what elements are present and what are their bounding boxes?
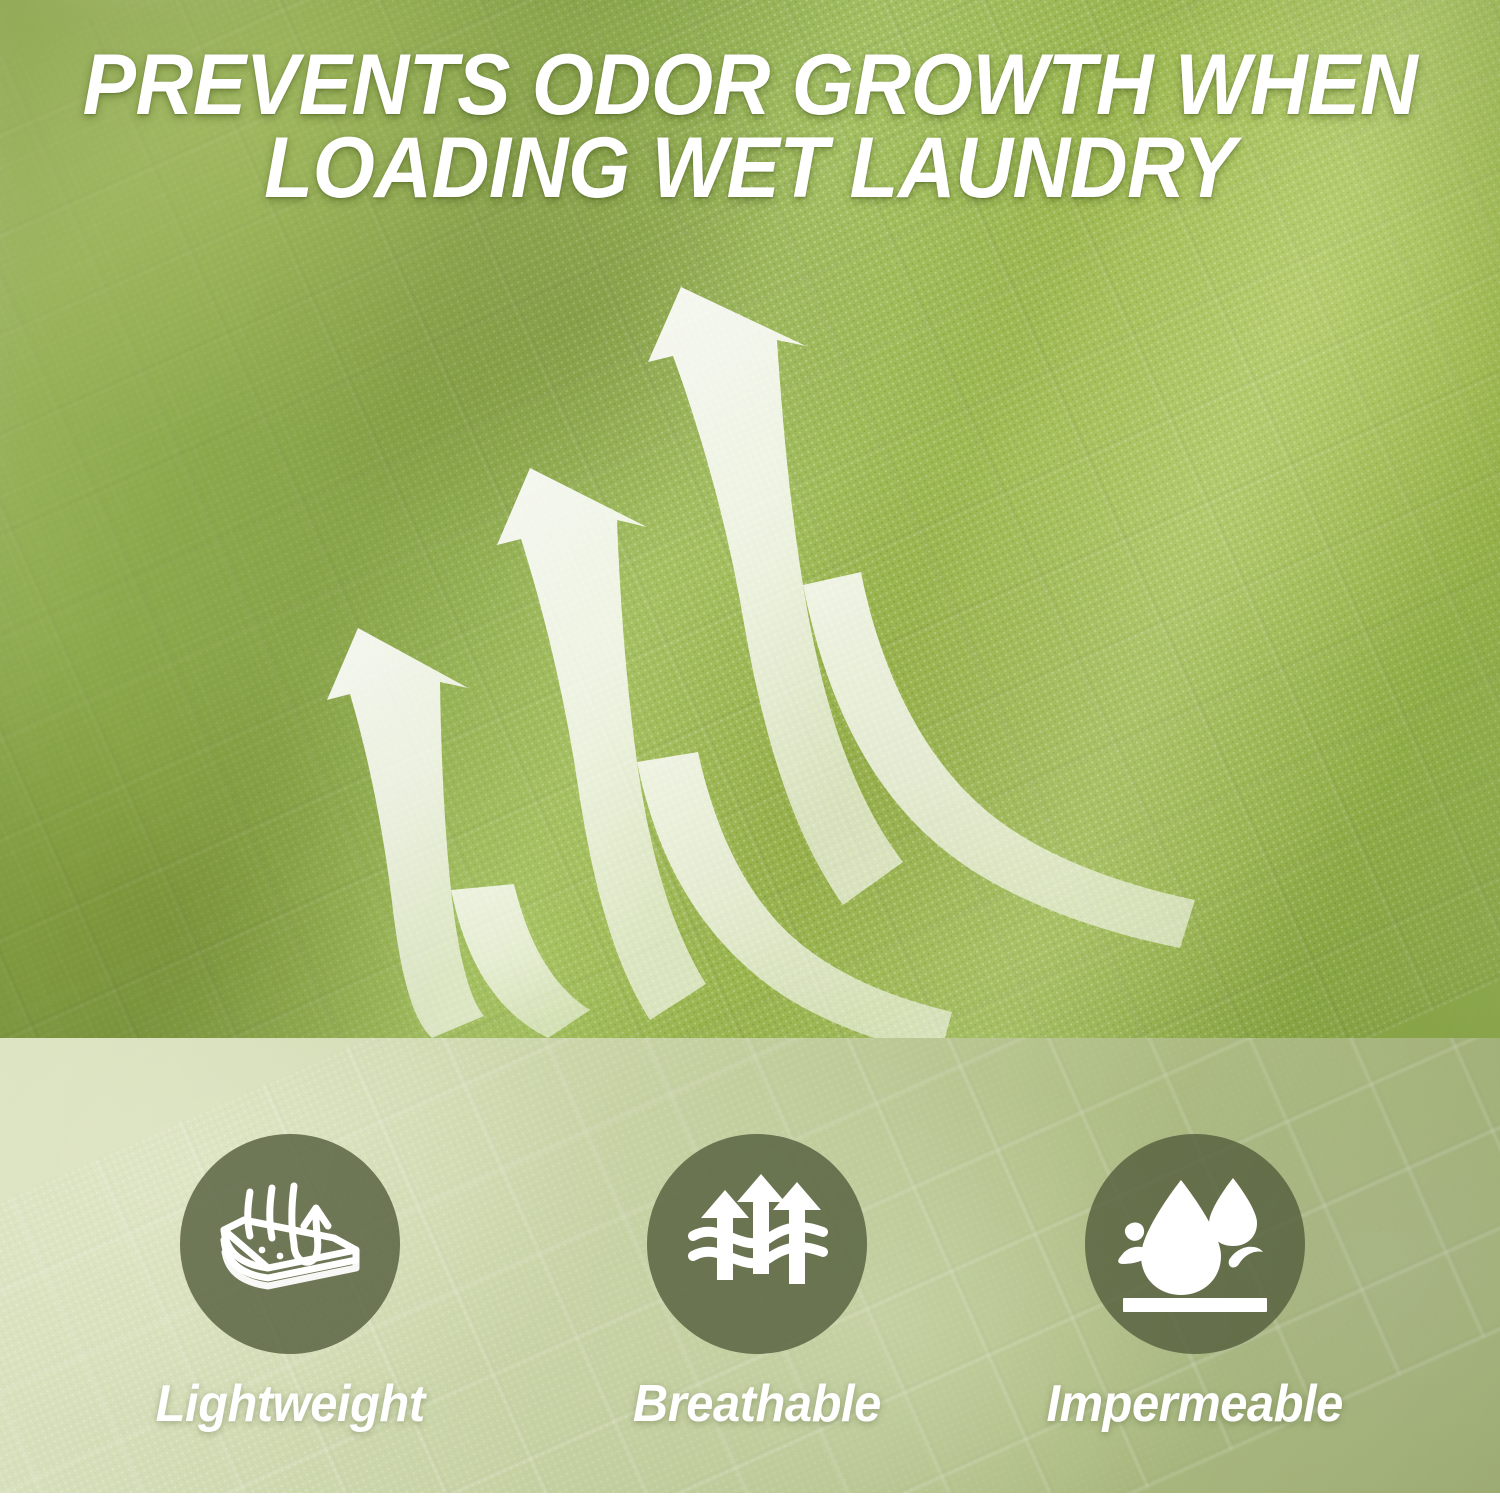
bottom-white-strip — [0, 1493, 1500, 1500]
lightweight-badge — [180, 1134, 400, 1354]
feature-label-lightweight: Lightweight — [155, 1378, 424, 1430]
airflow-arrows-group — [0, 0, 1500, 1038]
water-drop-large — [1141, 1180, 1221, 1295]
feature-item-breathable[interactable]: Breathable — [527, 1038, 987, 1493]
feature-label-impermeable: Impermeable — [1047, 1378, 1343, 1430]
fabric-layers-airflow-icon — [210, 1164, 370, 1324]
splash-left-upper — [1125, 1223, 1144, 1241]
impermeable-badge — [1085, 1134, 1305, 1354]
feature-item-lightweight[interactable]: Lightweight — [60, 1038, 520, 1493]
feature-item-impermeable[interactable]: Impermeable — [965, 1038, 1425, 1493]
water-drop-small — [1209, 1178, 1257, 1246]
product-feature-image: PREVENTS ODOR GROWTH WHEN LOADING WET LA… — [0, 0, 1500, 1500]
airflow-arrow-left — [327, 628, 590, 1038]
impermeable-surface-bar — [1123, 1298, 1267, 1312]
breathable-badge — [647, 1134, 867, 1354]
airflow-arrow-right — [648, 287, 1195, 948]
arrows-through-fabric-icon — [677, 1164, 837, 1324]
splash-right — [1229, 1247, 1263, 1268]
water-droplets-repelled-icon — [1115, 1164, 1275, 1324]
feature-list: Lightweight — [0, 1038, 1500, 1493]
feature-label-breathable: Breathable — [633, 1378, 881, 1430]
